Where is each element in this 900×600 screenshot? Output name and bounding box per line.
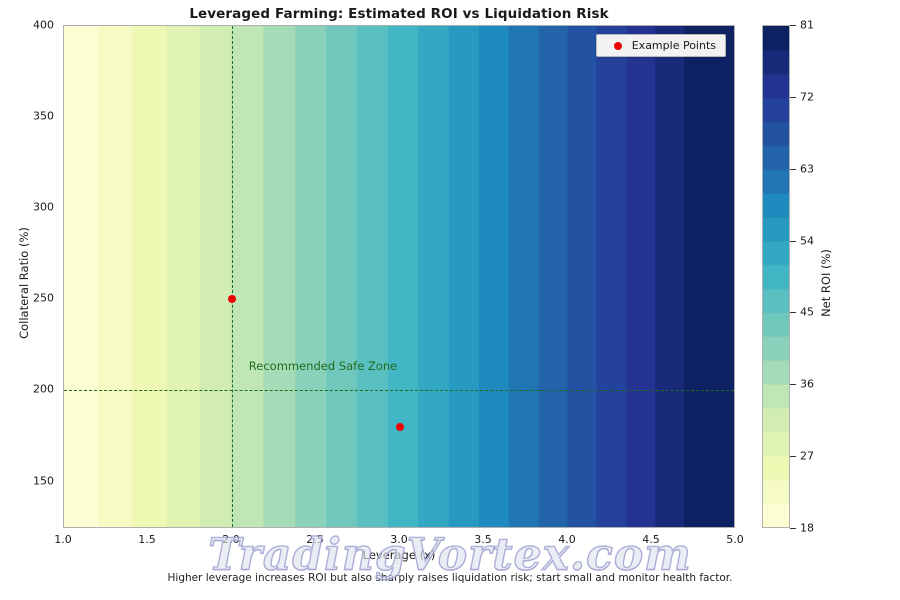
colorbar-tick-label: 27 <box>800 450 814 463</box>
colorbar-tick <box>790 241 796 242</box>
x-tick-label: 2.5 <box>306 533 324 546</box>
y-tick-label: 200 <box>54 383 75 396</box>
x-tick-label: 4.5 <box>642 533 660 546</box>
legend-label: Example Points <box>632 39 716 52</box>
colorbar-tick <box>790 528 796 529</box>
contour-field <box>64 26 734 527</box>
colorbar-tick-label: 54 <box>800 234 814 247</box>
x-axis-label: Leverage (x) <box>63 548 735 562</box>
chart-title: Leveraged Farming: Estimated ROI vs Liqu… <box>63 6 735 22</box>
x-tick-label: 5.0 <box>726 533 744 546</box>
colorbar-tick-label: 18 <box>800 522 814 535</box>
leverage-threshold-line <box>232 26 233 527</box>
x-tick-label: 4.0 <box>558 533 576 546</box>
x-tick-label: 3.0 <box>390 533 408 546</box>
y-tick-label: 350 <box>54 110 75 123</box>
collateral-threshold-line <box>64 390 734 391</box>
colorbar-tick <box>790 25 796 26</box>
colorbar-tick-label: 36 <box>800 378 814 391</box>
example-point <box>396 423 404 431</box>
x-tick-label: 1.5 <box>138 533 156 546</box>
legend-marker-icon <box>614 42 622 50</box>
colorbar-tick <box>790 456 796 457</box>
colorbar-tick <box>790 97 796 98</box>
colorbar-tick <box>790 169 796 170</box>
colorbar-label: Net ROI (%) <box>819 173 833 393</box>
y-tick-label: 250 <box>54 292 75 305</box>
colorbar-tick-label: 72 <box>800 90 814 103</box>
colorbar-tick <box>790 312 796 313</box>
y-tick-label: 150 <box>54 474 75 487</box>
x-tick-label: 2.0 <box>222 533 240 546</box>
y-axis-label: Collateral Ratio (%) <box>17 173 31 393</box>
colorbar-tick-label: 81 <box>800 19 814 32</box>
colorbar-tick-label: 63 <box>800 162 814 175</box>
safe-zone-annotation: Recommended Safe Zone <box>249 359 397 373</box>
legend[interactable]: Example Points <box>596 34 726 57</box>
colorbar-gradient <box>763 26 789 527</box>
x-tick-label: 1.0 <box>54 533 72 546</box>
plot-area: Recommended Safe Zone Example Points <box>63 25 735 528</box>
y-tick-label: 300 <box>54 201 75 214</box>
x-tick-label: 3.5 <box>474 533 492 546</box>
colorbar <box>762 25 790 528</box>
colorbar-tick-label: 45 <box>800 306 814 319</box>
chart-figure: Leveraged Farming: Estimated ROI vs Liqu… <box>0 0 900 600</box>
y-tick-label: 400 <box>54 19 75 32</box>
chart-caption: Higher leverage increases ROI but also s… <box>0 572 900 584</box>
colorbar-tick <box>790 384 796 385</box>
